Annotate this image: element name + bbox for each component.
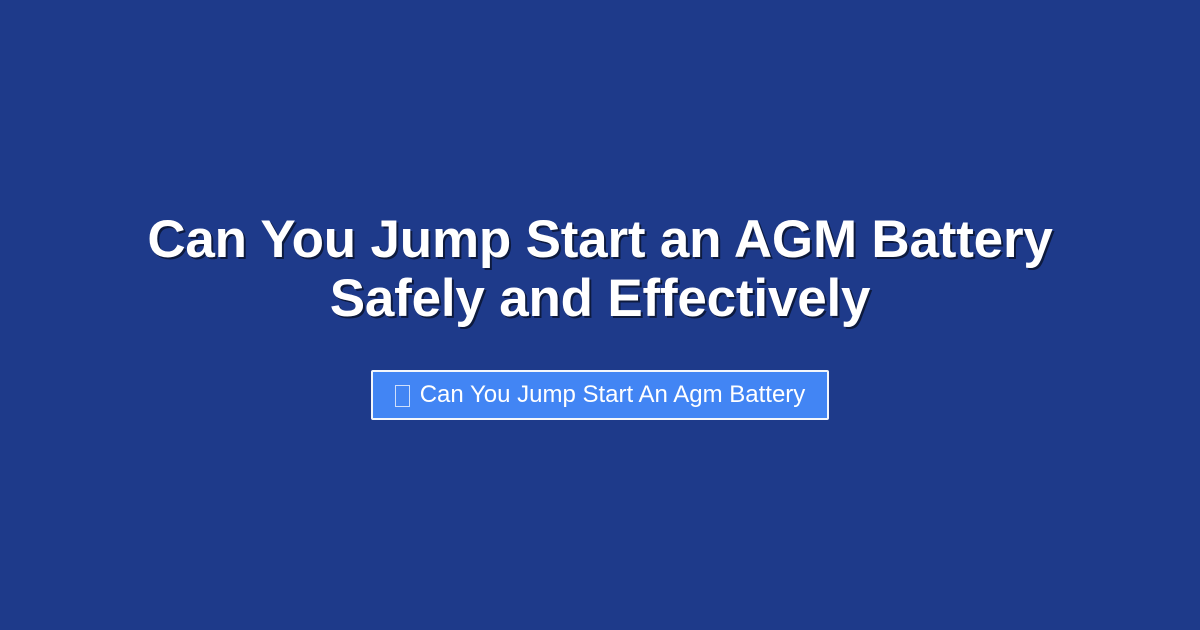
cta-button[interactable]: Can You Jump Start An Agm Battery xyxy=(371,370,830,420)
cta-button-label: Can You Jump Start An Agm Battery xyxy=(420,383,806,407)
card-content-container: Can You Jump Start an AGM Battery Safely… xyxy=(0,0,1200,630)
missing-glyph-tofu-box-icon xyxy=(395,385,410,407)
page-title: Can You Jump Start an AGM Battery Safely… xyxy=(80,210,1120,329)
og-preview-card: Can You Jump Start an AGM Battery Safely… xyxy=(0,0,1200,630)
